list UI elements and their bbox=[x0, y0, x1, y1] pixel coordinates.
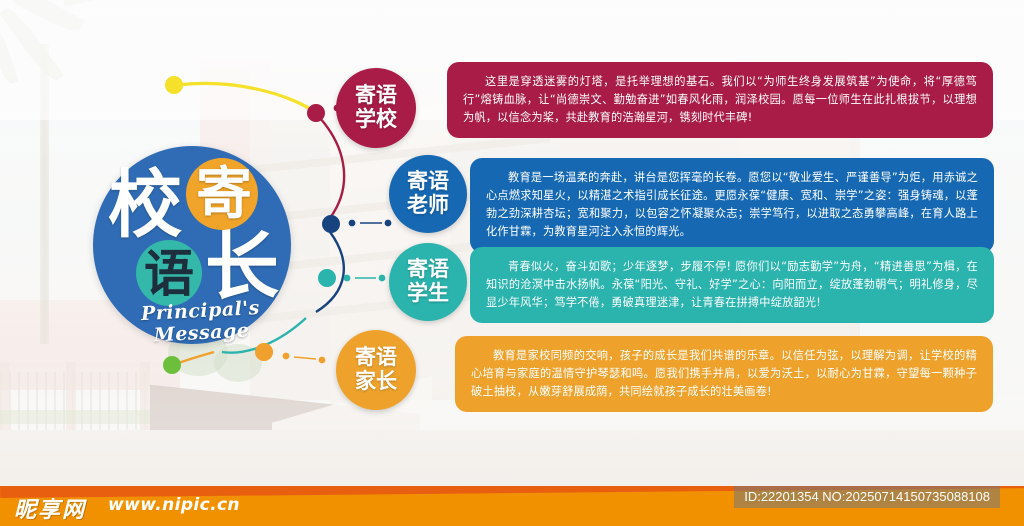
node-teal bbox=[318, 269, 336, 287]
connector-dash-orange bbox=[294, 357, 316, 359]
node-navy bbox=[322, 215, 340, 233]
node-orange bbox=[255, 343, 273, 361]
dot-teal-small bbox=[344, 275, 351, 282]
message-panel-student: 青春似火，奋斗如歌；少年逐梦，步履不停! 愿你们以“励志勤学”为舟，“精进善思”… bbox=[470, 247, 994, 323]
connector-line-orange bbox=[176, 352, 214, 364]
dot-orange-small bbox=[283, 353, 290, 360]
node-crimson bbox=[307, 104, 325, 122]
badge-teacher-line2: 老师 bbox=[407, 194, 449, 218]
badge-parent-line2: 家长 bbox=[355, 370, 397, 394]
badge-school[interactable]: 寄语 学校 bbox=[336, 68, 416, 148]
dot-orange-small bbox=[319, 357, 326, 364]
poster-canvas: 校 长 寄 语 Principal's Message 寄语 学校 寄语 老师 … bbox=[0, 0, 1024, 526]
badge-student-line1: 寄语 bbox=[407, 258, 449, 282]
badge-student-line2: 学生 bbox=[407, 282, 449, 306]
message-panel-teacher: 教育是一场温柔的奔赴，讲台是您挥毫的长卷。愿您以“敬业爱生、严谨善导”为炬，用赤… bbox=[470, 158, 994, 253]
nipic-logo: 昵享网 bbox=[14, 492, 86, 524]
emblem-char-zhang: 长 bbox=[205, 230, 279, 304]
dot-navy-small bbox=[385, 220, 392, 227]
badge-school-line2: 学校 bbox=[355, 108, 397, 132]
emblem-char-yu: 语 bbox=[144, 249, 194, 299]
badge-school-line1: 寄语 bbox=[355, 84, 397, 108]
node-yellow bbox=[165, 76, 183, 94]
dot-navy-small bbox=[349, 220, 356, 227]
emblem-char-xiao: 校 bbox=[108, 168, 182, 242]
watermark-footer-bar: 昵享网 www.nipic.cn ID:22201354 NO:20250714… bbox=[0, 486, 1024, 526]
asset-id-chip: ID:22201354 NO:20250714150735088108 bbox=[734, 486, 1000, 508]
badge-parent[interactable]: 寄语 家长 bbox=[336, 330, 416, 410]
connector-line-crimson bbox=[320, 118, 344, 218]
badge-parent-line1: 寄语 bbox=[355, 346, 397, 370]
emblem-char-ji: 寄 bbox=[196, 167, 252, 223]
nipic-url[interactable]: www.nipic.cn bbox=[108, 495, 240, 515]
message-panel-school: 这里是穿透迷雾的灯塔，是托举理想的基石。我们以“为师生终身发展筑基”为使命，将“… bbox=[447, 62, 993, 138]
badge-teacher-line1: 寄语 bbox=[407, 170, 449, 194]
connector-line-yellow bbox=[178, 83, 312, 110]
node-green bbox=[163, 356, 181, 374]
badge-teacher[interactable]: 寄语 老师 bbox=[389, 155, 467, 233]
badge-student[interactable]: 寄语 学生 bbox=[389, 243, 467, 321]
message-panel-parent: 教育是家校同频的交响，孩子的成长是我们共谱的乐章。以信任为弦，以理解为调，让学校… bbox=[455, 336, 993, 412]
dot-teal-small bbox=[379, 275, 386, 282]
